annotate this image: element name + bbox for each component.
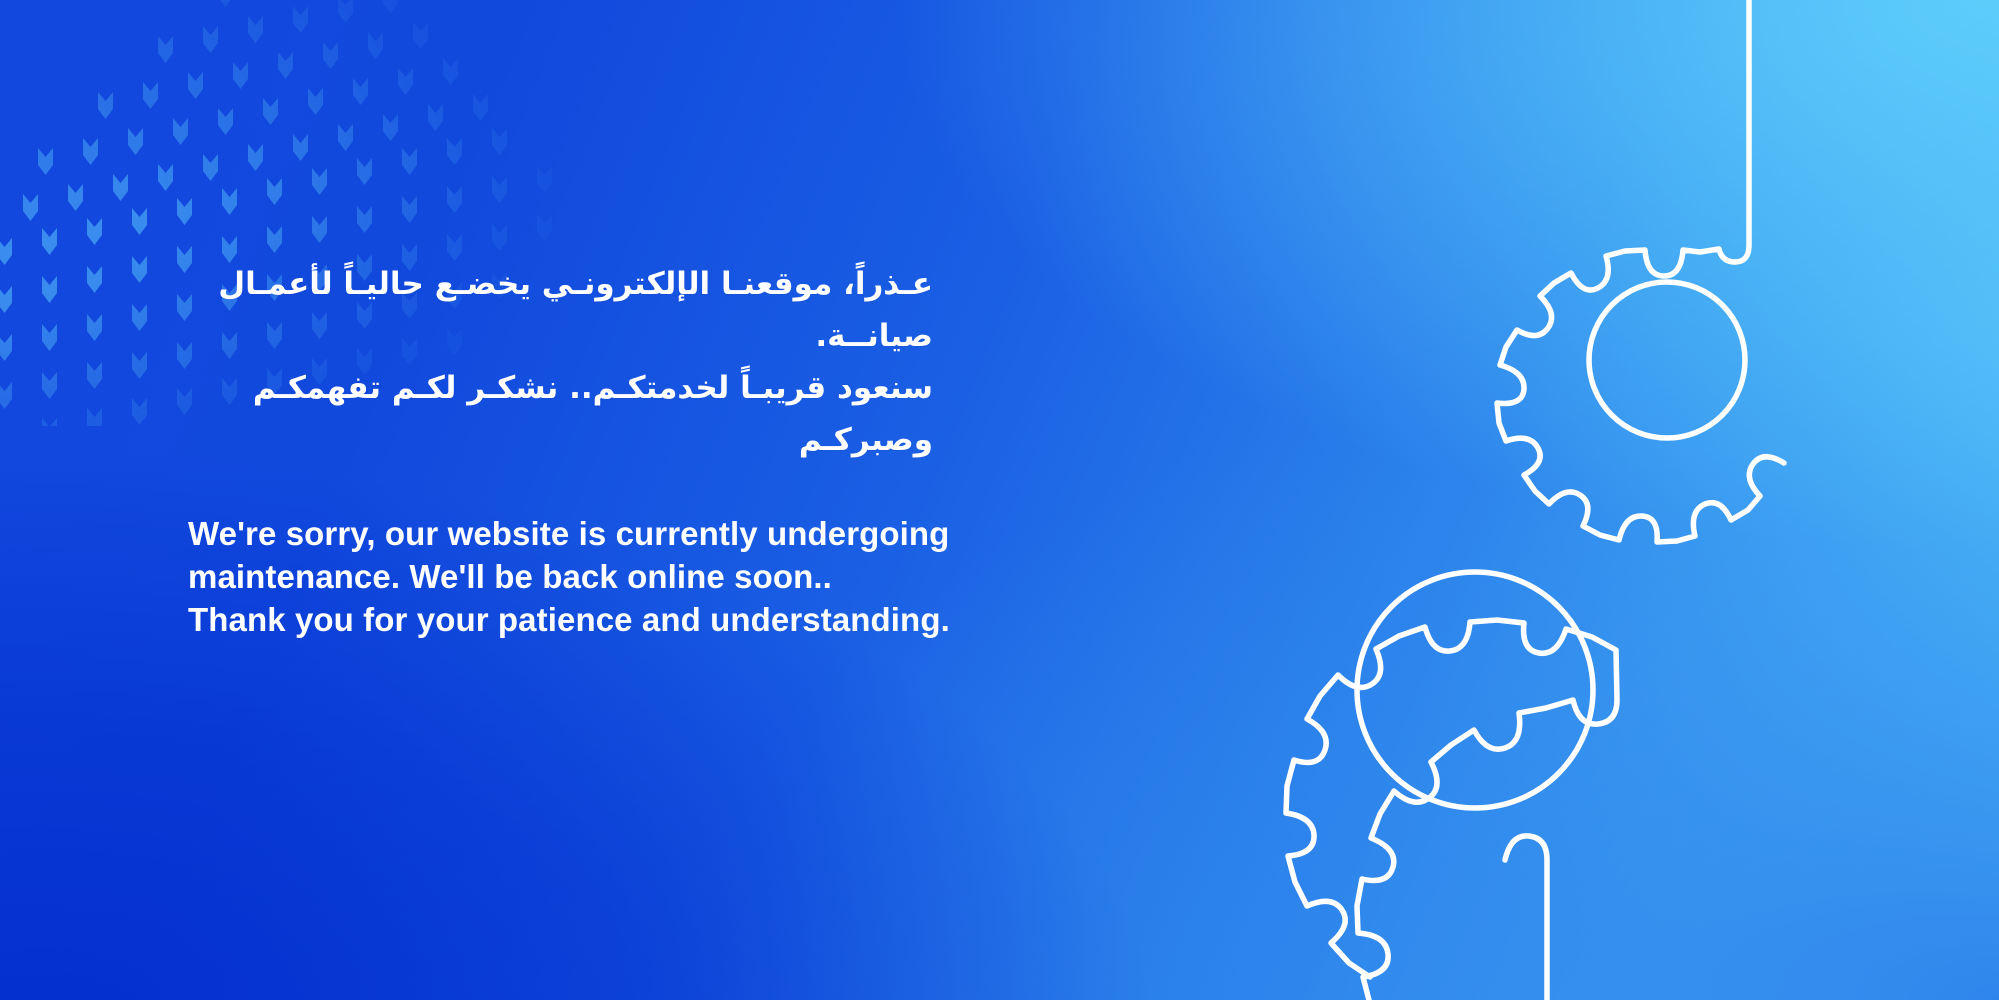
maintenance-message-english: We're sorry, our website is currently un… — [188, 512, 1168, 641]
maintenance-message-arabic: عـذراً، موقعنـا الإلكترونـي يخضـع حاليـا… — [188, 258, 933, 466]
maintenance-page: عـذراً، موقعنـا الإلكترونـي يخضـع حاليـا… — [0, 0, 1999, 1000]
maintenance-message-block: عـذراً، موقعنـا الإلكترونـي يخضـع حاليـا… — [188, 258, 1168, 641]
